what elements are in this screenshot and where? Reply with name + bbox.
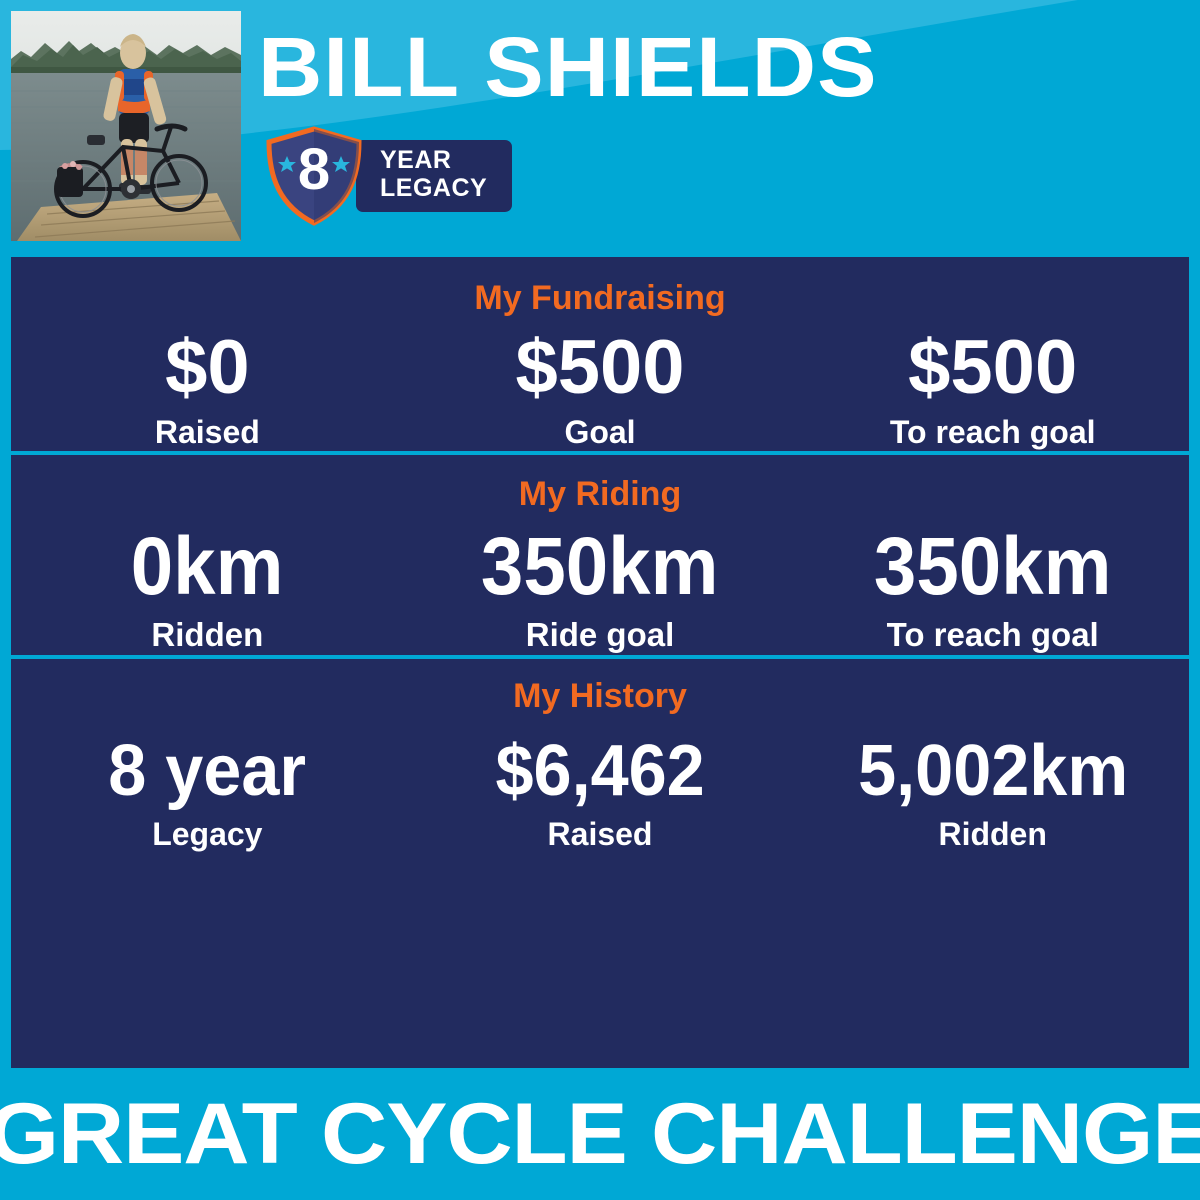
- stats-panel: My Fundraising $0 Raised $500 Goal $500 …: [11, 257, 1189, 1068]
- legacy-badge-line2: LEGACY: [380, 174, 510, 202]
- stat-label: Raised: [11, 413, 404, 451]
- stat-label: Ridden: [11, 615, 404, 655]
- stat-label: Ride goal: [404, 615, 797, 655]
- section-my-history: My History 8 year Legacy $6,462 Raised 5…: [11, 659, 1189, 853]
- legacy-badge: 8 YEAR LEGACY: [262, 126, 512, 226]
- stats-row-history: 8 year Legacy $6,462 Raised 5,002km Ridd…: [11, 729, 1189, 853]
- stat-label: Raised: [404, 815, 797, 853]
- footer-brand-bar: GREAT CYCLE CHALLENGE: [0, 1068, 1200, 1200]
- section-my-riding: My Riding 0km Ridden 350km Ride goal 350…: [11, 455, 1189, 655]
- stat-raised: $0 Raised: [11, 325, 404, 451]
- stat-value: $0: [11, 325, 404, 411]
- stat-value: $500: [796, 325, 1189, 411]
- stat-label: Legacy: [11, 815, 404, 853]
- stat-label: Goal: [404, 413, 797, 451]
- stat-total-ridden: 5,002km Ridden: [796, 729, 1189, 853]
- stat-value: 350km: [481, 519, 718, 615]
- stat-total-raised: $6,462 Raised: [404, 729, 797, 853]
- page-title: BILL SHIELDS: [258, 20, 1200, 115]
- stat-value: 8 year: [108, 729, 306, 813]
- athlete-photo: [11, 11, 241, 241]
- section-title-riding: My Riding: [11, 455, 1189, 513]
- stat-ridden: 0km Ridden: [11, 519, 404, 655]
- stat-value: $6,462: [495, 729, 704, 813]
- section-title-fundraising: My Fundraising: [11, 257, 1189, 317]
- stat-label: To reach goal: [796, 615, 1189, 655]
- stats-row-riding: 0km Ridden 350km Ride goal 350km To reac…: [11, 519, 1189, 655]
- stat-value: $500: [404, 325, 797, 411]
- stat-value: 5,002km: [858, 729, 1128, 813]
- stat-ride-to-reach-goal: 350km To reach goal: [796, 519, 1189, 655]
- section-my-fundraising: My Fundraising $0 Raised $500 Goal $500 …: [11, 257, 1189, 451]
- stat-value: 350km: [874, 519, 1111, 615]
- stat-legacy: 8 year Legacy: [11, 729, 404, 853]
- legacy-badge-number: 8: [262, 139, 366, 201]
- header-banner: BILL SHIELDS 8 YEAR LEGACY: [0, 0, 1200, 257]
- brand-wordmark: GREAT CYCLE CHALLENGE: [0, 1084, 1200, 1185]
- stat-goal: $500 Goal: [404, 325, 797, 451]
- stats-row-fundraising: $0 Raised $500 Goal $500 To reach goal: [11, 325, 1189, 451]
- stat-value: 0km: [131, 519, 284, 615]
- stat-label: Ridden: [796, 815, 1189, 853]
- stat-to-reach-goal: $500 To reach goal: [796, 325, 1189, 451]
- stat-ride-goal: 350km Ride goal: [404, 519, 797, 655]
- section-title-history: My History: [11, 659, 1189, 715]
- legacy-badge-line1: YEAR: [380, 146, 510, 174]
- stat-label: To reach goal: [796, 413, 1189, 451]
- legacy-badge-text: YEAR LEGACY: [380, 146, 510, 202]
